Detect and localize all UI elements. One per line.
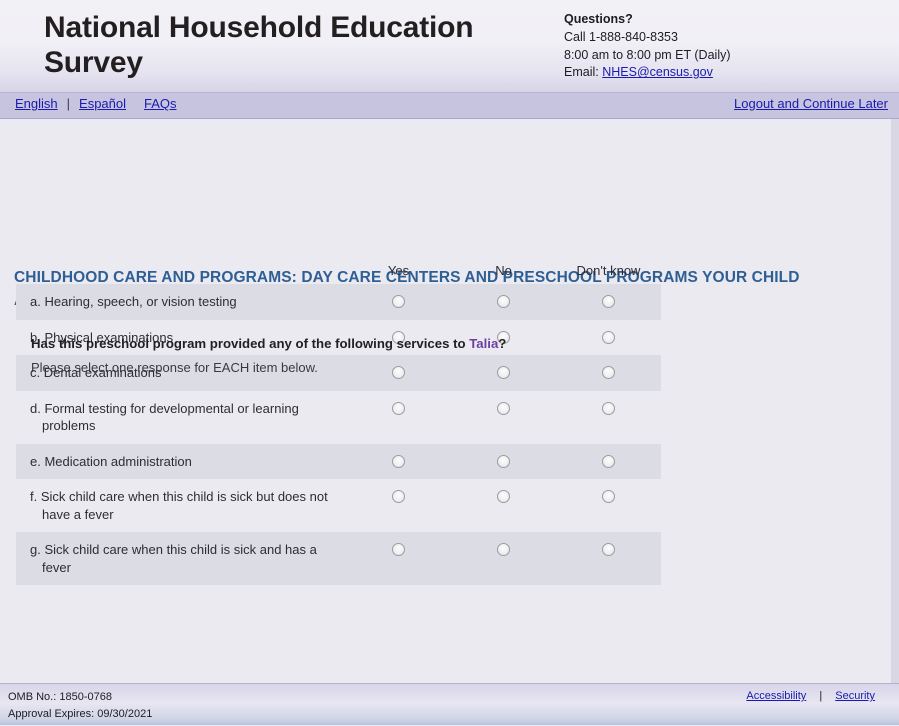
radio-d-no[interactable] bbox=[497, 402, 510, 415]
grid-column-headers: Yes No Don't know bbox=[16, 257, 661, 284]
main-content: CHILDHOOD CARE AND PROGRAMS: DAY CARE CE… bbox=[0, 119, 899, 683]
services-question-block: Has this preschool program provided any … bbox=[16, 257, 661, 585]
radio-cell-g-no bbox=[451, 532, 556, 556]
radio-a-no[interactable] bbox=[497, 295, 510, 308]
radio-cell-a-dont-know bbox=[556, 284, 661, 308]
radio-g-no[interactable] bbox=[497, 543, 510, 556]
radio-cell-f-no bbox=[451, 479, 556, 503]
radio-c-yes[interactable] bbox=[392, 366, 405, 379]
approval-expires: Approval Expires: 09/30/2021 bbox=[8, 706, 152, 723]
accessibility-link[interactable]: Accessibility bbox=[746, 690, 806, 702]
contact-questions-label: Questions? bbox=[564, 11, 731, 29]
navigation-bar: English | Español FAQs Logout and Contin… bbox=[0, 93, 899, 119]
row-label-d: d. Formal testing for developmental or l… bbox=[16, 391, 346, 444]
radio-b-dont-know[interactable] bbox=[602, 331, 615, 344]
radio-cell-f-dont-know bbox=[556, 479, 661, 503]
page-footer: OMB No.: 1850-0768 Approval Expires: 09/… bbox=[0, 683, 899, 725]
footer-links: Accessibility | Security bbox=[736, 690, 885, 702]
question-prefix: Has this preschool program provided any … bbox=[31, 336, 469, 351]
row-label-f: f. Sick child care when this child is si… bbox=[16, 479, 346, 532]
contact-hours: 8:00 am to 8:00 pm ET (Daily) bbox=[564, 47, 731, 65]
radio-cell-b-dont-know bbox=[556, 320, 661, 344]
nav-link-espanol[interactable]: Español bbox=[79, 96, 126, 111]
nav-links-left: English | Español FAQs bbox=[6, 96, 186, 111]
radio-cell-d-yes bbox=[346, 391, 451, 415]
radio-cell-f-yes bbox=[346, 479, 451, 503]
footer-separator: | bbox=[819, 690, 822, 702]
radio-cell-c-no bbox=[451, 355, 556, 379]
contact-email-line: Email: NHES@census.gov bbox=[564, 64, 731, 82]
radio-e-no[interactable] bbox=[497, 455, 510, 468]
radio-e-yes[interactable] bbox=[392, 455, 405, 468]
instruction-text: Please select one response for EACH item… bbox=[31, 360, 318, 375]
radio-cell-a-yes bbox=[346, 284, 451, 308]
column-header-no: No bbox=[451, 263, 556, 278]
table-row: f. Sick child care when this child is si… bbox=[16, 479, 661, 532]
contact-email-link[interactable]: NHES@census.gov bbox=[602, 65, 713, 79]
radio-cell-e-dont-know bbox=[556, 444, 661, 468]
omb-number: OMB No.: 1850-0768 bbox=[8, 689, 152, 706]
site-title: National Household Education Survey bbox=[44, 10, 544, 80]
nav-link-english[interactable]: English bbox=[15, 96, 58, 111]
radio-cell-d-dont-know bbox=[556, 391, 661, 415]
row-label-a: a. Hearing, speech, or vision testing bbox=[16, 284, 346, 320]
radio-c-dont-know[interactable] bbox=[602, 366, 615, 379]
question-suffix: ? bbox=[498, 336, 506, 351]
radio-cell-g-dont-know bbox=[556, 532, 661, 556]
radio-a-yes[interactable] bbox=[392, 295, 405, 308]
radio-cell-d-no bbox=[451, 391, 556, 415]
contact-phone: Call 1-888-840-8353 bbox=[564, 29, 731, 47]
radio-cell-a-no bbox=[451, 284, 556, 308]
radio-g-yes[interactable] bbox=[392, 543, 405, 556]
column-header-dont-know: Don't know bbox=[556, 263, 661, 278]
radio-cell-g-yes bbox=[346, 532, 451, 556]
radio-f-dont-know[interactable] bbox=[602, 490, 615, 503]
row-label-g: g. Sick child care when this child is si… bbox=[16, 532, 346, 585]
radio-f-no[interactable] bbox=[497, 490, 510, 503]
contact-email-label: Email: bbox=[564, 65, 599, 79]
table-row: g. Sick child care when this child is si… bbox=[16, 532, 661, 585]
radio-d-yes[interactable] bbox=[392, 402, 405, 415]
nav-link-faqs[interactable]: FAQs bbox=[144, 96, 177, 111]
contact-info-block: Questions? Call 1-888-840-8353 8:00 am t… bbox=[564, 11, 731, 82]
row-label-e: e. Medication administration bbox=[16, 444, 346, 480]
radio-f-yes[interactable] bbox=[392, 490, 405, 503]
logout-continue-later-link[interactable]: Logout and Continue Later bbox=[734, 96, 888, 111]
child-name: Talia bbox=[469, 336, 498, 351]
security-link[interactable]: Security bbox=[835, 690, 875, 702]
nav-links-right: Logout and Continue Later bbox=[734, 96, 888, 111]
radio-a-dont-know[interactable] bbox=[602, 295, 615, 308]
radio-cell-e-yes bbox=[346, 444, 451, 468]
radio-d-dont-know[interactable] bbox=[602, 402, 615, 415]
footer-omb-block: OMB No.: 1850-0768 Approval Expires: 09/… bbox=[8, 689, 152, 723]
radio-cell-c-dont-know bbox=[556, 355, 661, 379]
column-header-yes: Yes bbox=[346, 263, 451, 278]
radio-cell-c-yes bbox=[346, 355, 451, 379]
radio-c-no[interactable] bbox=[497, 366, 510, 379]
nav-separator: | bbox=[67, 96, 70, 111]
radio-cell-e-no bbox=[451, 444, 556, 468]
table-row: a. Hearing, speech, or vision testing bbox=[16, 284, 661, 320]
table-row: e. Medication administration bbox=[16, 444, 661, 480]
page-header: National Household Education Survey Ques… bbox=[0, 0, 899, 93]
radio-e-dont-know[interactable] bbox=[602, 455, 615, 468]
table-row: d. Formal testing for developmental or l… bbox=[16, 391, 661, 444]
radio-g-dont-know[interactable] bbox=[602, 543, 615, 556]
question-text: Has this preschool program provided any … bbox=[31, 336, 506, 351]
